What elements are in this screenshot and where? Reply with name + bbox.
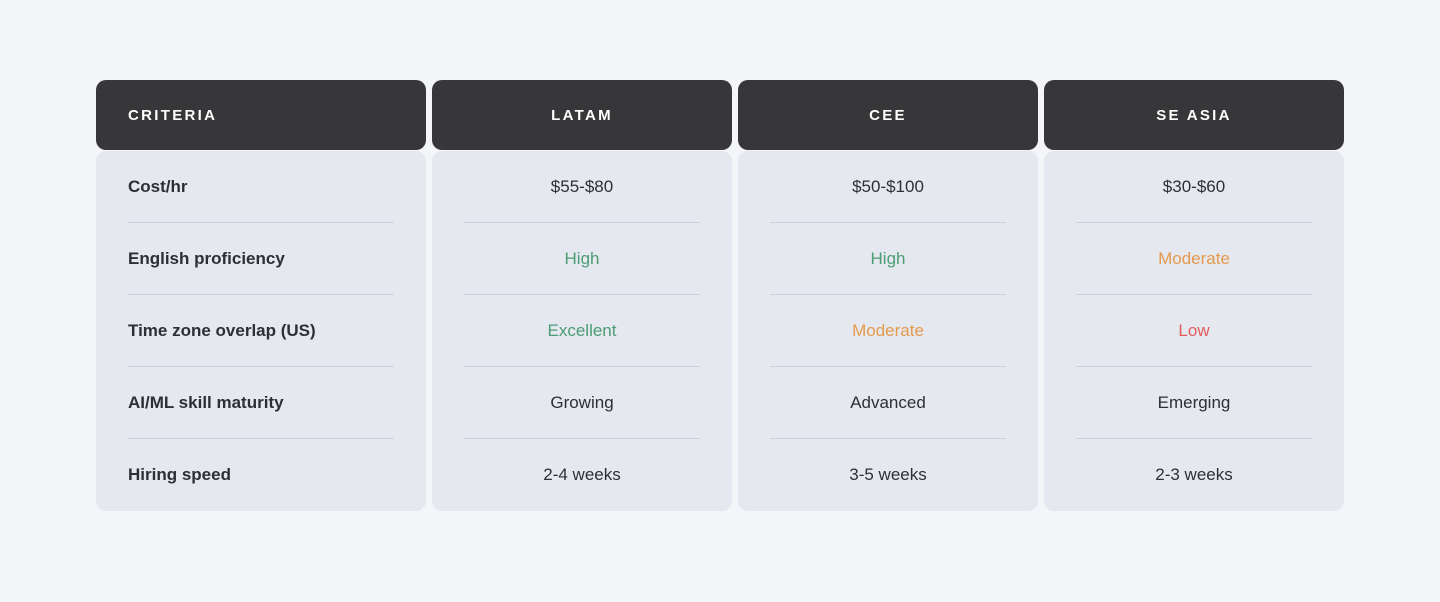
column-header-criteria: CRITERIA	[96, 80, 426, 150]
criteria-cell: English proficiency	[96, 223, 426, 295]
value-cell: 2-4 weeks	[432, 439, 732, 511]
column-body-se-asia: $30-$60ModerateLowEmerging2-3 weeks	[1044, 151, 1344, 511]
value-cell: Moderate	[738, 295, 1038, 367]
value-cell: Growing	[432, 367, 732, 439]
criteria-cell: Hiring speed	[96, 439, 426, 511]
value-cell: 2-3 weeks	[1044, 439, 1344, 511]
value-cell: Moderate	[1044, 223, 1344, 295]
value-cell: High	[738, 223, 1038, 295]
column-header-latam: LATAM	[432, 80, 732, 150]
column-body-latam: $55-$80HighExcellentGrowing2-4 weeks	[432, 151, 732, 511]
criteria-cell: AI/ML skill maturity	[96, 367, 426, 439]
column-body-cee: $50-$100HighModerateAdvanced3-5 weeks	[738, 151, 1038, 511]
value-cell: $55-$80	[432, 151, 732, 223]
criteria-cell: Time zone overlap (US)	[96, 295, 426, 367]
column-body-criteria: Cost/hrEnglish proficiencyTime zone over…	[96, 151, 426, 511]
value-cell: $50-$100	[738, 151, 1038, 223]
column-se-asia: SE ASIA $30-$60ModerateLowEmerging2-3 we…	[1044, 80, 1344, 511]
value-cell: 3-5 weeks	[738, 439, 1038, 511]
value-cell: Excellent	[432, 295, 732, 367]
column-header-cee: CEE	[738, 80, 1038, 150]
column-criteria: CRITERIA Cost/hrEnglish proficiencyTime …	[96, 80, 426, 511]
value-cell: $30-$60	[1044, 151, 1344, 223]
value-cell: High	[432, 223, 732, 295]
value-cell: Advanced	[738, 367, 1038, 439]
region-comparison-table: CRITERIA Cost/hrEnglish proficiencyTime …	[96, 80, 1344, 511]
column-header-se-asia: SE ASIA	[1044, 80, 1344, 150]
criteria-cell: Cost/hr	[96, 151, 426, 223]
column-latam: LATAM $55-$80HighExcellentGrowing2-4 wee…	[432, 80, 732, 511]
value-cell: Low	[1044, 295, 1344, 367]
value-cell: Emerging	[1044, 367, 1344, 439]
column-cee: CEE $50-$100HighModerateAdvanced3-5 week…	[738, 80, 1038, 511]
